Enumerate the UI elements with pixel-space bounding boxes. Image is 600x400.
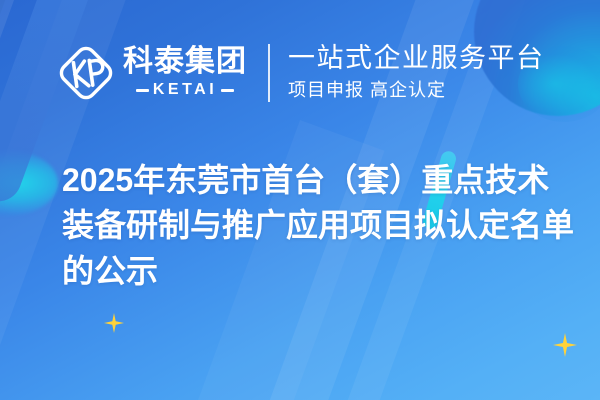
tagline-main: 一站式企业服务平台 [288, 43, 545, 74]
tagline-sub: 项目申报 高企认定 [288, 78, 545, 102]
tagline-block: 一站式企业服务平台 项目申报 高企认定 [288, 43, 545, 102]
ketai-diamond-monogram-icon [58, 45, 114, 101]
dash-right-icon [221, 89, 234, 92]
promo-banner: 科泰集团 KETAI 一站式企业服务平台 项目申报 高企认定 2025年东莞市首… [0, 0, 600, 400]
brand-name-en: KETAI [153, 82, 217, 98]
brand-wordmark: 科泰集团 KETAI [123, 47, 247, 98]
brand-logo[interactable]: 科泰集团 KETAI [58, 45, 247, 101]
dash-left-icon [136, 89, 149, 92]
page-title: 2025年东莞市首台（套）重点技术装备研制与推广应用项目拟认定名单的公示 [62, 158, 578, 294]
brand-name-cn: 科泰集团 [123, 47, 247, 77]
sparkle-star-right-icon [553, 333, 577, 357]
sparkle-star-left-icon [104, 313, 124, 333]
brand-name-en-row: KETAI [136, 82, 234, 98]
banner-header: 科泰集团 KETAI 一站式企业服务平台 项目申报 高企认定 [0, 0, 600, 145]
header-divider [268, 44, 270, 102]
